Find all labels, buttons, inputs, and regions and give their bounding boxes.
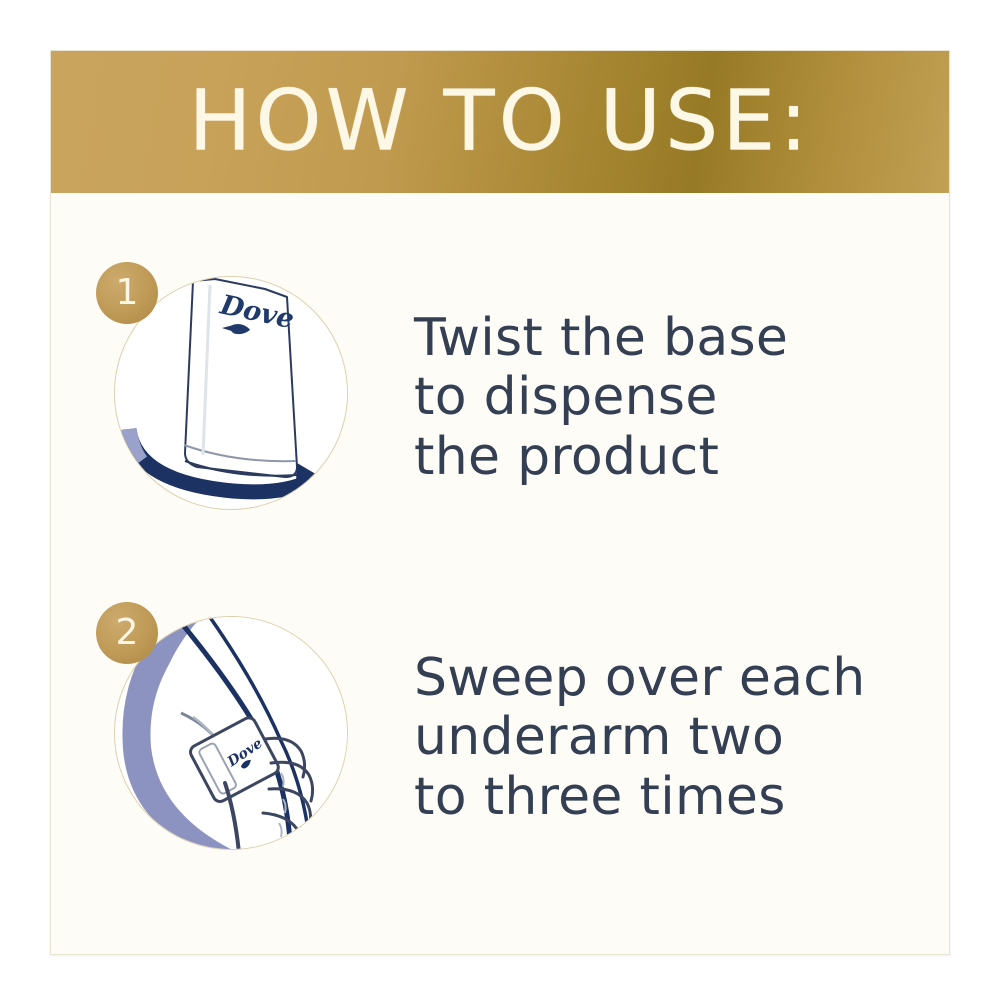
header-band: HOW TO USE: bbox=[51, 51, 949, 193]
step-1-text: Twist the base to dispense the product bbox=[414, 309, 788, 487]
step-1-number-badge: 1 bbox=[96, 262, 158, 324]
step-1-illustration-wrap: Dove bbox=[96, 248, 396, 548]
how-to-use-infographic: HOW TO USE: bbox=[0, 0, 1000, 1000]
step-2-text: Sweep over each underarm two to three ti… bbox=[414, 649, 865, 827]
steps-container: Dove bbox=[51, 193, 949, 954]
page-title: HOW TO USE: bbox=[51, 78, 949, 162]
step-2-number-badge: 2 bbox=[96, 602, 158, 664]
step-2: Dove bbox=[51, 588, 949, 888]
step-1: Dove bbox=[51, 248, 949, 548]
step-2-illustration-wrap: Dove bbox=[96, 588, 396, 888]
instruction-card: HOW TO USE: bbox=[50, 50, 950, 955]
